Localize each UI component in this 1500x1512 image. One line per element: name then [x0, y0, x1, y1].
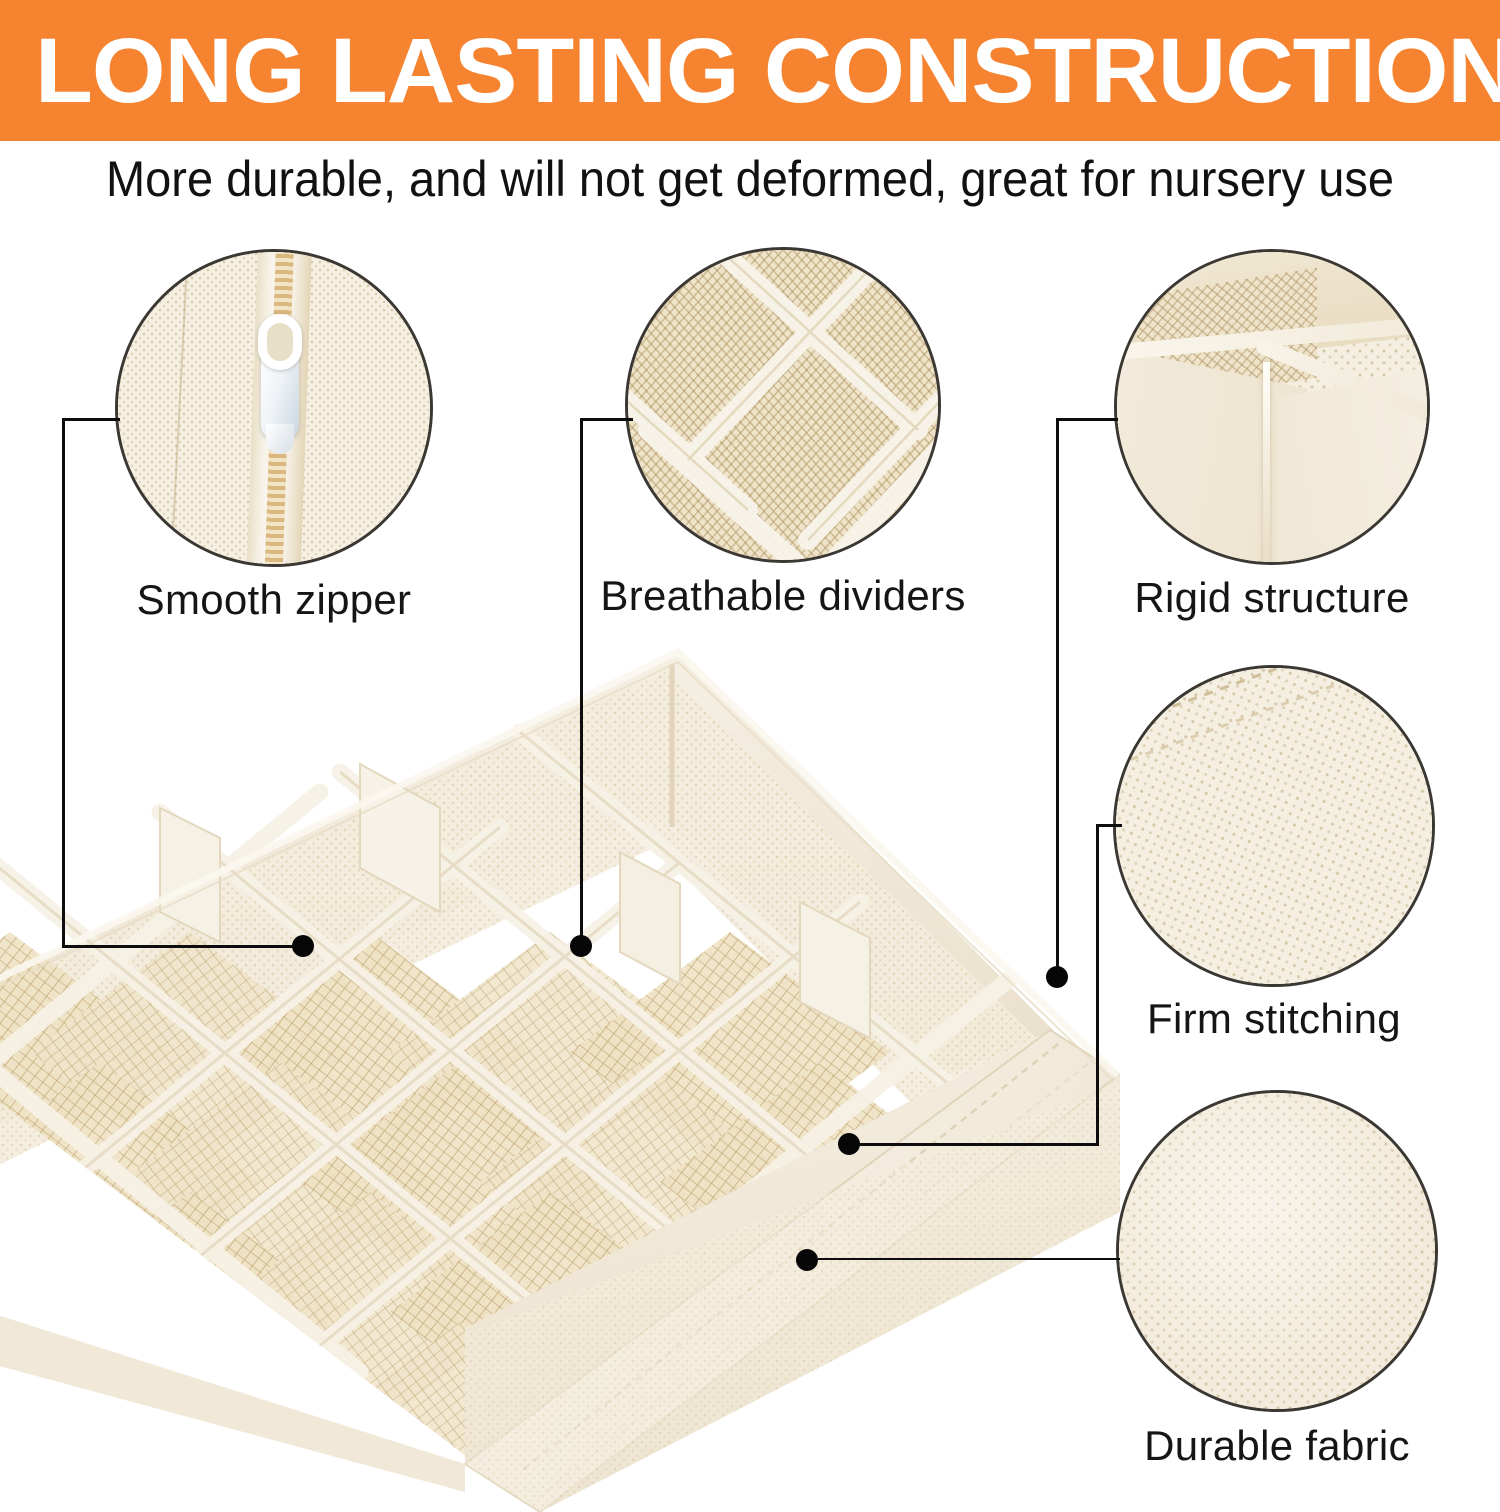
firm-stitching-photo: [1113, 665, 1435, 987]
callout-label-firm-stitching: Firm stitching: [1103, 995, 1445, 1043]
connector-segment: [580, 418, 583, 946]
zipper-slider-tab: [266, 424, 294, 454]
page-title: LONG LASTING CONSTRUCTION: [0, 25, 1500, 117]
durable-fabric-photo: [1116, 1090, 1438, 1412]
connector-endpoint-dot: [838, 1133, 860, 1155]
rigid-structure-photo: [1114, 249, 1430, 565]
connector-segment: [818, 1258, 1120, 1260]
connector-segment: [856, 1143, 1099, 1146]
connector-endpoint-dot: [1046, 966, 1068, 988]
callout-firm-stitching: Firm stitching: [1113, 665, 1435, 987]
connector-segment: [62, 418, 65, 948]
corner-seam: [1263, 362, 1270, 565]
callout-label-rigid-structure: Rigid structure: [1100, 574, 1444, 622]
callout-label-durable-fabric: Durable fabric: [1104, 1422, 1450, 1470]
connector-segment: [62, 418, 120, 421]
subtitle-text: More durable, and will not get deformed,…: [45, 150, 1455, 208]
connector-segment: [580, 418, 633, 421]
product-image: [0, 612, 1120, 1512]
connector-segment: [1056, 418, 1059, 978]
connector-segment: [1056, 418, 1118, 421]
header-banner: LONG LASTING CONSTRUCTION: [0, 0, 1500, 141]
connector-segment: [1096, 824, 1122, 827]
callout-label-smooth-zipper: Smooth zipper: [97, 576, 451, 624]
breathable-dividers-photo: [625, 247, 941, 563]
divider-edges: [625, 247, 941, 563]
callout-label-breathable-dividers: Breathable dividers: [597, 572, 969, 620]
callout-breathable-dividers: Breathable dividers: [625, 247, 941, 563]
connector-endpoint-dot: [796, 1249, 818, 1271]
smooth-zipper-photo: [115, 249, 433, 567]
connector-endpoint-dot: [292, 935, 314, 957]
connector-endpoint-dot: [570, 935, 592, 957]
connector-segment: [1096, 824, 1099, 1146]
callout-durable-fabric: Durable fabric: [1116, 1090, 1438, 1412]
stitching-fabric: [1113, 665, 1435, 987]
callout-smooth-zipper: Smooth zipper: [115, 249, 433, 567]
callout-rigid-structure: Rigid structure: [1114, 249, 1430, 565]
zipper-pull: [258, 314, 302, 370]
connector-segment: [62, 945, 305, 948]
fabric-sheen: [1119, 1093, 1435, 1409]
